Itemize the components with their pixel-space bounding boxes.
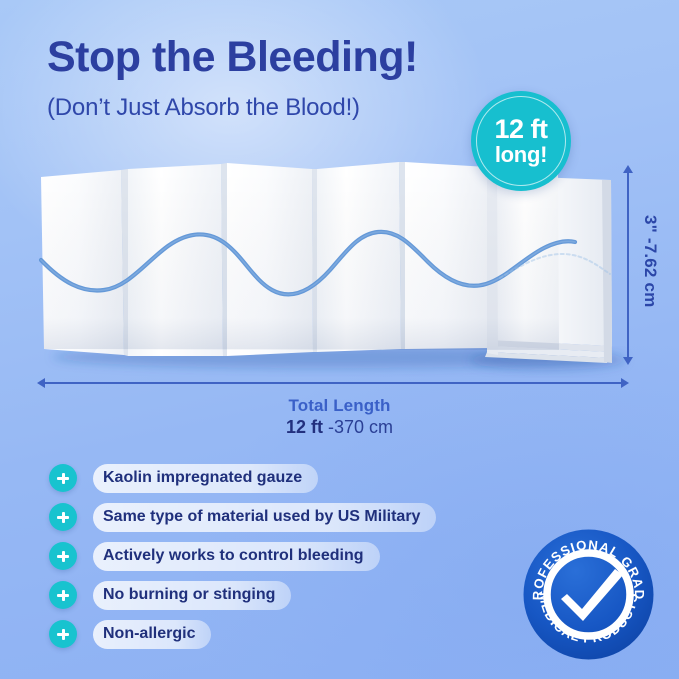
height-dimension-label: 3" -7.62 cm (640, 215, 660, 307)
page-title: Stop the Bleeding! (47, 33, 418, 82)
length-dimension-value: 12 ft -370 cm (0, 417, 679, 438)
list-item: No burning or stinging (49, 579, 436, 611)
length-badge-line2: long! (495, 143, 547, 166)
list-item: Same type of material used by US Militar… (49, 501, 436, 533)
feature-label: Same type of material used by US Militar… (93, 503, 436, 532)
length-dimension-caption: Total Length (0, 396, 679, 416)
gauze-illustration (0, 150, 679, 380)
length-value-metric: -370 cm (328, 417, 393, 437)
plus-icon (49, 503, 77, 531)
plus-icon (49, 620, 77, 648)
plus-icon (49, 464, 77, 492)
feature-label: No burning or stinging (93, 581, 291, 610)
length-value-imperial: 12 ft (286, 417, 323, 437)
length-badge-line1: 12 ft (494, 116, 547, 144)
length-badge: 12 ft long! (471, 91, 571, 191)
feature-label: Kaolin impregnated gauze (93, 464, 318, 493)
length-dimension-arrow (44, 382, 622, 384)
page-subtitle: (Don’t Just Absorb the Blood!) (47, 94, 360, 122)
feature-label: Actively works to control bleeding (93, 542, 380, 571)
feature-list: Kaolin impregnated gauze Same type of ma… (49, 462, 436, 657)
plus-icon (49, 581, 77, 609)
plus-icon (49, 542, 77, 570)
product-image (0, 150, 679, 380)
list-item: Non-allergic (49, 618, 436, 650)
list-item: Actively works to control bleeding (49, 540, 436, 572)
height-dimension-arrow (627, 172, 629, 358)
seal-graphic: PROFESSIONAL GRADE MEDICAL PRODUCTS (522, 528, 655, 661)
professional-grade-seal: PROFESSIONAL GRADE MEDICAL PRODUCTS (522, 528, 655, 661)
feature-label: Non-allergic (93, 620, 211, 649)
list-item: Kaolin impregnated gauze (49, 462, 436, 494)
